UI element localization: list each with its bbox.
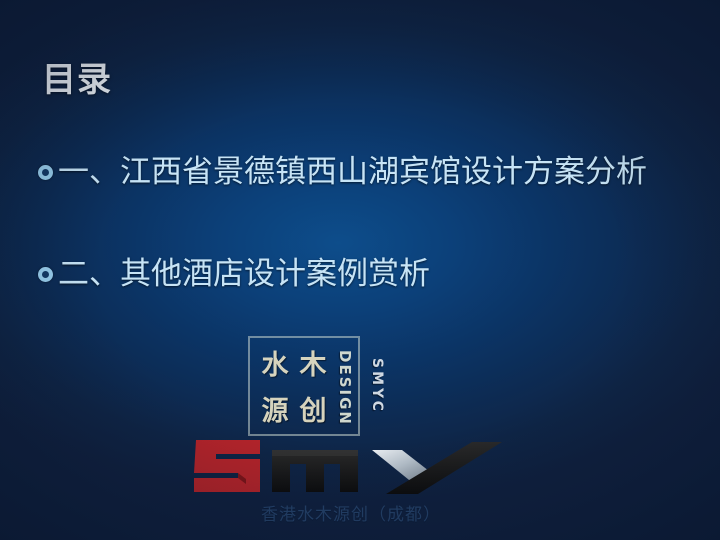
smy-letter-s [194,440,260,492]
list-item[interactable]: 二、其他酒店设计案例赏析 [38,254,688,294]
watermark-smyc-text: SMYC [369,358,385,414]
smy-logo-svg [186,432,506,498]
smy-letter-m [272,450,358,492]
contents-list: 一、江西省景德镇西山湖宾馆设计方案分析 二、其他酒店设计案例赏析 [38,152,688,357]
smy-letter-y [372,442,502,494]
list-item-label: 一、江西省景德镇西山湖宾馆设计方案分析 [58,152,688,192]
seal-char-yuan: 源 [262,398,289,425]
page-title: 目录 [42,62,112,99]
watermark-company-line: 香港水木源创（成都） [186,500,516,525]
ring-bullet-icon [38,165,53,180]
watermark-smyc-label: SMYC [366,340,388,432]
seal-char-chuang: 创 [300,398,327,425]
seal-char-mu: 木 [300,352,327,379]
seal-char-shui: 水 [262,352,289,379]
ring-bullet-icon [38,267,53,282]
watermark-design-text: DESIGN [336,350,354,426]
list-item-label: 二、其他酒店设计案例赏析 [58,254,688,294]
watermark-design-label: DESIGN [334,342,356,434]
list-item[interactable]: 一、江西省景德镇西山湖宾馆设计方案分析 [38,152,688,192]
watermark-seal-frame: 水 木 源 创 DESIGN [248,336,360,436]
presentation-slide: 目录 一、江西省景德镇西山湖宾馆设计方案分析 二、其他酒店设计案例赏析 水 木 … [0,0,720,540]
watermark-smy-wordmark [186,432,506,498]
watermark-seal-characters: 水 木 源 创 [256,342,332,434]
